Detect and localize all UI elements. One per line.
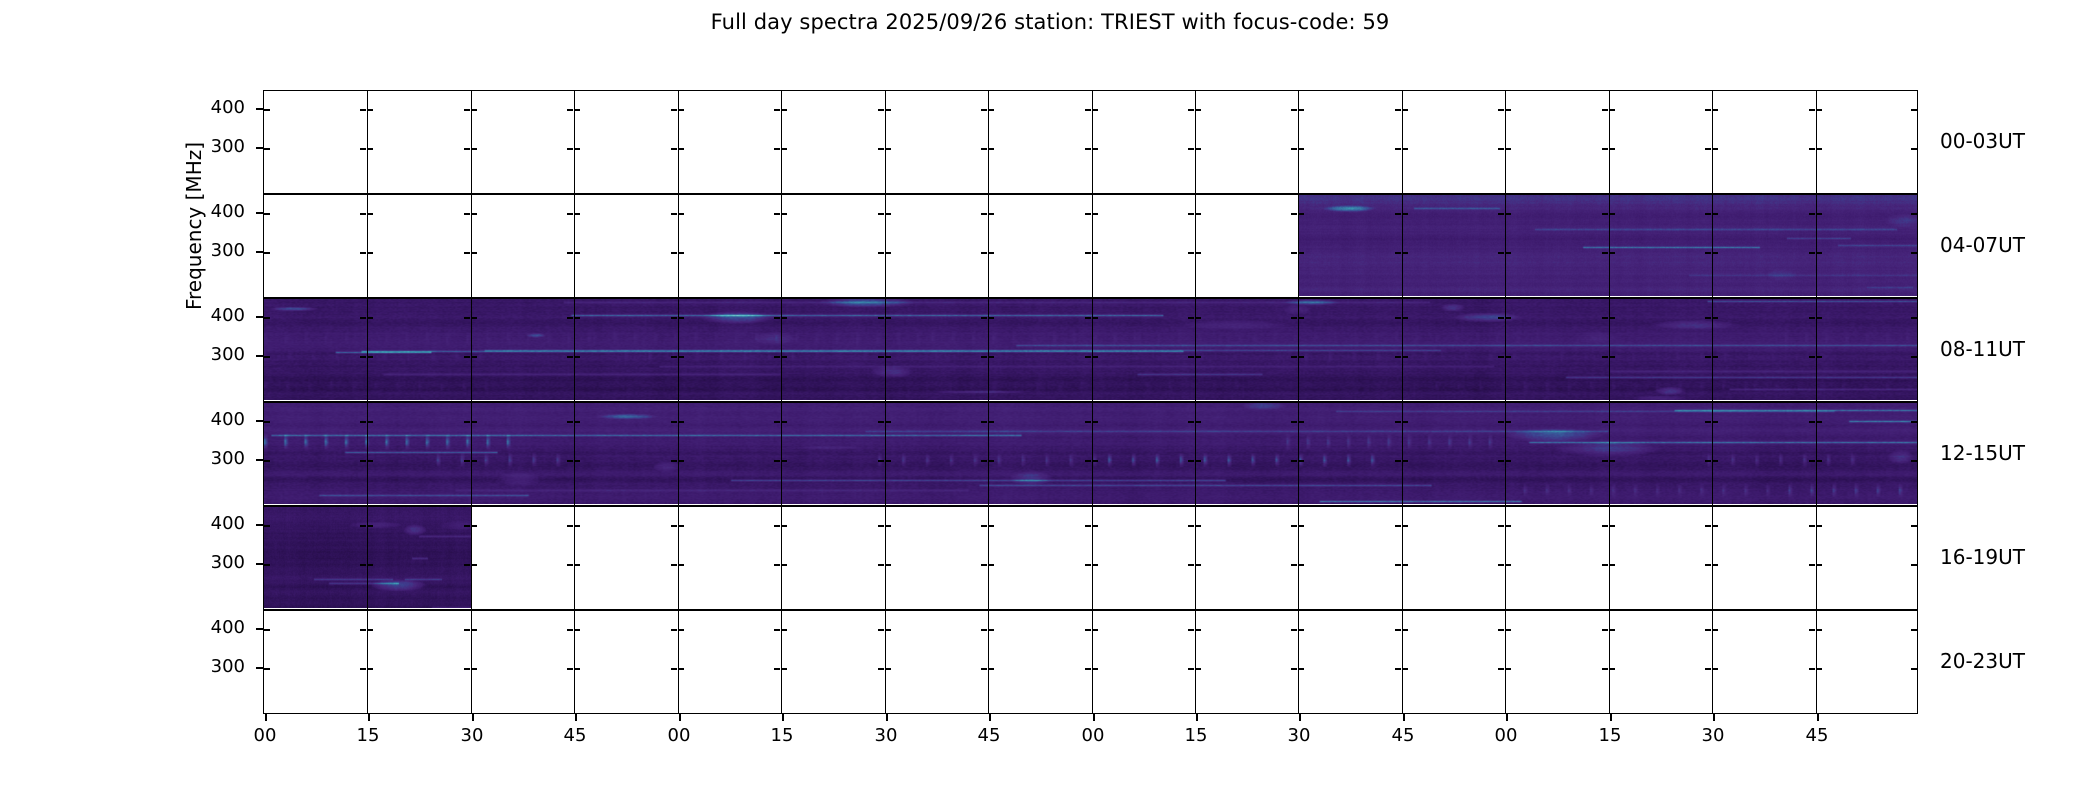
y-tick-mark bbox=[1085, 564, 1091, 566]
y-tick-mark bbox=[774, 148, 780, 150]
x-axis-tick-label: 15 bbox=[752, 725, 812, 746]
y-tick-mark bbox=[878, 564, 884, 566]
y-tick-mark bbox=[988, 252, 994, 254]
y-tick-mark bbox=[367, 109, 373, 111]
x-axis-tick bbox=[1713, 714, 1715, 721]
spectrogram-panel-20-23ut[interactable] bbox=[263, 610, 1918, 714]
y-tick-mark bbox=[264, 213, 270, 215]
column-divider bbox=[678, 611, 679, 713]
y-tick-mark bbox=[1298, 109, 1304, 111]
y-tick-mark bbox=[885, 148, 891, 150]
figure-title: Full day spectra 2025/09/26 station: TRI… bbox=[0, 10, 2100, 34]
y-axis-tick bbox=[256, 316, 263, 318]
y-tick-mark bbox=[1911, 109, 1917, 111]
spectrogram-panel-08-11ut[interactable] bbox=[263, 298, 1918, 402]
y-tick-mark bbox=[1092, 564, 1098, 566]
y-axis-tick bbox=[256, 628, 263, 630]
y-tick-mark bbox=[567, 109, 573, 111]
x-axis-tick-label: 30 bbox=[442, 725, 502, 746]
y-tick-mark bbox=[1092, 668, 1098, 670]
y-tick-mark bbox=[885, 668, 891, 670]
y-tick-mark bbox=[1705, 148, 1711, 150]
y-tick-mark bbox=[471, 525, 477, 527]
y-tick-mark bbox=[1188, 148, 1194, 150]
y-tick-mark bbox=[981, 525, 987, 527]
y-tick-mark bbox=[1498, 109, 1504, 111]
y-tick-mark bbox=[1602, 109, 1608, 111]
y-tick-mark bbox=[367, 668, 373, 670]
y-axis-tick-label: 400 bbox=[185, 201, 245, 222]
y-tick-mark bbox=[1092, 109, 1098, 111]
column-divider bbox=[781, 195, 782, 297]
y-tick-mark bbox=[1085, 148, 1091, 150]
column-divider bbox=[1505, 507, 1506, 609]
y-tick-mark bbox=[1092, 629, 1098, 631]
column-divider bbox=[1402, 611, 1403, 713]
y-tick-mark bbox=[1498, 629, 1504, 631]
y-tick-mark bbox=[1085, 629, 1091, 631]
y-tick-mark bbox=[1085, 109, 1091, 111]
x-axis-tick-label: 30 bbox=[1269, 725, 1329, 746]
y-tick-mark bbox=[988, 668, 994, 670]
y-tick-mark bbox=[1505, 148, 1511, 150]
column-divider bbox=[678, 507, 679, 609]
y-tick-mark bbox=[781, 525, 787, 527]
column-divider bbox=[1298, 611, 1299, 713]
y-tick-mark bbox=[781, 109, 787, 111]
panel-time-label: 00-03UT bbox=[1940, 129, 2025, 153]
column-divider bbox=[1609, 507, 1610, 609]
y-tick-mark bbox=[1195, 668, 1201, 670]
column-divider bbox=[1092, 507, 1093, 609]
column-divider bbox=[1816, 91, 1817, 193]
y-tick-mark bbox=[1395, 109, 1401, 111]
y-tick-mark bbox=[567, 668, 573, 670]
y-tick-mark bbox=[1092, 148, 1098, 150]
y-tick-mark bbox=[878, 109, 884, 111]
y-tick-mark bbox=[1195, 252, 1201, 254]
y-tick-mark bbox=[1291, 668, 1297, 670]
y-tick-mark bbox=[1195, 148, 1201, 150]
y-tick-mark bbox=[1505, 668, 1511, 670]
x-axis-tick-label: 15 bbox=[1580, 725, 1640, 746]
y-tick-mark bbox=[1402, 668, 1408, 670]
y-tick-mark bbox=[1395, 629, 1401, 631]
panel-time-label: 20-23UT bbox=[1940, 649, 2025, 673]
y-tick-mark bbox=[1816, 109, 1822, 111]
y-axis-tick-label: 300 bbox=[185, 344, 245, 365]
y-tick-mark bbox=[781, 252, 787, 254]
y-axis-tick bbox=[256, 459, 263, 461]
x-axis-tick bbox=[1299, 714, 1301, 721]
y-tick-mark bbox=[574, 213, 580, 215]
y-tick-mark bbox=[360, 213, 366, 215]
y-tick-mark bbox=[1816, 668, 1822, 670]
y-tick-mark bbox=[988, 629, 994, 631]
y-tick-mark bbox=[1298, 148, 1304, 150]
column-divider bbox=[781, 611, 782, 713]
y-tick-mark bbox=[671, 148, 677, 150]
column-divider bbox=[574, 611, 575, 713]
column-divider bbox=[367, 91, 368, 193]
x-axis-tick-label: 45 bbox=[1787, 725, 1847, 746]
y-tick-mark bbox=[1188, 668, 1194, 670]
y-tick-mark bbox=[1291, 564, 1297, 566]
spectrogram-figure: Full day spectra 2025/09/26 station: TRI… bbox=[0, 0, 2100, 800]
y-tick-mark bbox=[885, 525, 891, 527]
y-tick-mark bbox=[1712, 525, 1718, 527]
x-axis-tick-label: 15 bbox=[1166, 725, 1226, 746]
column-divider bbox=[1195, 611, 1196, 713]
y-tick-mark bbox=[1816, 525, 1822, 527]
column-divider bbox=[1402, 91, 1403, 193]
y-tick-mark bbox=[781, 629, 787, 631]
x-axis-tick bbox=[989, 714, 991, 721]
y-tick-mark bbox=[878, 213, 884, 215]
y-tick-mark bbox=[360, 148, 366, 150]
y-tick-mark bbox=[981, 109, 987, 111]
y-tick-mark bbox=[360, 109, 366, 111]
y-axis-tick bbox=[256, 420, 263, 422]
y-axis-tick-label: 400 bbox=[185, 305, 245, 326]
y-tick-mark bbox=[774, 629, 780, 631]
y-tick-mark bbox=[1402, 525, 1408, 527]
y-tick-mark bbox=[1291, 629, 1297, 631]
y-tick-mark bbox=[1291, 252, 1297, 254]
y-tick-mark bbox=[1609, 109, 1615, 111]
y-tick-mark bbox=[1809, 109, 1815, 111]
y-tick-mark bbox=[1911, 668, 1917, 670]
column-divider bbox=[1402, 507, 1403, 609]
spectrogram-panel-12-15ut[interactable] bbox=[263, 402, 1918, 506]
y-tick-mark bbox=[1712, 148, 1718, 150]
column-divider bbox=[988, 91, 989, 193]
y-tick-mark bbox=[1505, 109, 1511, 111]
x-axis-tick-label: 15 bbox=[338, 725, 398, 746]
y-tick-mark bbox=[678, 213, 684, 215]
y-axis-tick bbox=[256, 147, 263, 149]
y-tick-mark bbox=[671, 629, 677, 631]
y-tick-mark bbox=[1602, 148, 1608, 150]
column-divider bbox=[781, 507, 782, 609]
y-tick-mark bbox=[264, 109, 270, 111]
y-tick-mark bbox=[1188, 525, 1194, 527]
y-tick-mark bbox=[1498, 148, 1504, 150]
y-tick-mark bbox=[1602, 629, 1608, 631]
y-tick-mark bbox=[678, 525, 684, 527]
y-tick-mark bbox=[1402, 629, 1408, 631]
y-tick-mark bbox=[1395, 668, 1401, 670]
y-tick-mark bbox=[567, 564, 573, 566]
y-tick-mark bbox=[1712, 668, 1718, 670]
y-axis-tick bbox=[256, 524, 263, 526]
y-tick-mark bbox=[1092, 252, 1098, 254]
y-axis-tick bbox=[256, 251, 263, 253]
x-axis-tick-label: 45 bbox=[1373, 725, 1433, 746]
y-axis-tick bbox=[256, 212, 263, 214]
y-tick-mark bbox=[1298, 564, 1304, 566]
y-tick-mark bbox=[1498, 668, 1504, 670]
y-tick-mark bbox=[1809, 629, 1815, 631]
column-divider bbox=[471, 611, 472, 713]
x-axis-tick bbox=[886, 714, 888, 721]
y-tick-mark bbox=[567, 213, 573, 215]
y-tick-mark bbox=[1712, 109, 1718, 111]
y-tick-mark bbox=[1809, 148, 1815, 150]
y-tick-mark bbox=[885, 109, 891, 111]
y-tick-mark bbox=[988, 109, 994, 111]
y-tick-mark bbox=[1395, 148, 1401, 150]
y-tick-mark bbox=[574, 629, 580, 631]
y-tick-mark bbox=[678, 629, 684, 631]
y-tick-mark bbox=[1705, 525, 1711, 527]
spectrogram-data bbox=[264, 507, 471, 608]
x-axis-tick-label: 30 bbox=[856, 725, 916, 746]
y-tick-mark bbox=[1602, 668, 1608, 670]
y-tick-mark bbox=[781, 148, 787, 150]
y-tick-mark bbox=[367, 252, 373, 254]
panel-time-label: 16-19UT bbox=[1940, 545, 2025, 569]
y-tick-mark bbox=[981, 213, 987, 215]
y-tick-mark bbox=[1402, 148, 1408, 150]
y-tick-mark bbox=[471, 668, 477, 670]
y-tick-mark bbox=[981, 564, 987, 566]
y-tick-mark bbox=[1602, 564, 1608, 566]
y-axis-tick bbox=[256, 355, 263, 357]
column-divider bbox=[1712, 507, 1713, 609]
column-divider bbox=[1092, 611, 1093, 713]
y-tick-mark bbox=[1188, 109, 1194, 111]
y-tick-mark bbox=[1809, 564, 1815, 566]
y-tick-mark bbox=[464, 109, 470, 111]
y-tick-mark bbox=[1609, 564, 1615, 566]
y-tick-mark bbox=[264, 148, 270, 150]
y-tick-mark bbox=[671, 564, 677, 566]
y-tick-mark bbox=[264, 252, 270, 254]
y-axis-tick-label: 300 bbox=[185, 448, 245, 469]
y-tick-mark bbox=[1085, 252, 1091, 254]
y-tick-mark bbox=[885, 252, 891, 254]
y-tick-mark bbox=[981, 148, 987, 150]
x-axis-tick bbox=[575, 714, 577, 721]
y-tick-mark bbox=[1298, 668, 1304, 670]
y-tick-mark bbox=[988, 564, 994, 566]
y-tick-mark bbox=[1195, 109, 1201, 111]
y-axis-tick-label: 400 bbox=[185, 97, 245, 118]
column-divider bbox=[1092, 195, 1093, 297]
x-axis-tick-label: 30 bbox=[1683, 725, 1743, 746]
y-tick-mark bbox=[1609, 629, 1615, 631]
y-tick-mark bbox=[774, 525, 780, 527]
y-axis-tick-label: 400 bbox=[185, 409, 245, 430]
y-tick-mark bbox=[471, 213, 477, 215]
y-tick-mark bbox=[1092, 525, 1098, 527]
y-tick-mark bbox=[1705, 564, 1711, 566]
y-tick-mark bbox=[1085, 525, 1091, 527]
column-divider bbox=[471, 507, 472, 609]
x-axis-tick bbox=[1506, 714, 1508, 721]
spectrogram-panel-16-19ut[interactable] bbox=[263, 506, 1918, 610]
y-tick-mark bbox=[774, 213, 780, 215]
column-divider bbox=[1505, 611, 1506, 713]
y-tick-mark bbox=[464, 629, 470, 631]
panel-time-label: 04-07UT bbox=[1940, 233, 2025, 257]
y-tick-mark bbox=[1395, 525, 1401, 527]
y-tick-mark bbox=[1705, 668, 1711, 670]
y-tick-mark bbox=[1705, 629, 1711, 631]
column-divider bbox=[367, 195, 368, 297]
y-tick-mark bbox=[471, 252, 477, 254]
y-tick-mark bbox=[678, 109, 684, 111]
y-axis-tick-label: 300 bbox=[185, 656, 245, 677]
y-tick-mark bbox=[464, 668, 470, 670]
column-divider bbox=[1195, 91, 1196, 193]
y-tick-mark bbox=[1395, 564, 1401, 566]
panel-time-label: 12-15UT bbox=[1940, 441, 2025, 465]
y-axis-tick-label: 300 bbox=[185, 240, 245, 261]
y-tick-mark bbox=[671, 252, 677, 254]
y-tick-mark bbox=[574, 564, 580, 566]
y-tick-mark bbox=[574, 668, 580, 670]
y-axis-tick-label: 300 bbox=[185, 136, 245, 157]
y-tick-mark bbox=[360, 668, 366, 670]
x-axis-tick-label: 00 bbox=[1063, 725, 1123, 746]
y-tick-mark bbox=[878, 668, 884, 670]
y-tick-mark bbox=[1809, 668, 1815, 670]
y-tick-mark bbox=[774, 109, 780, 111]
y-tick-mark bbox=[471, 109, 477, 111]
x-axis-tick bbox=[1817, 714, 1819, 721]
y-tick-mark bbox=[1195, 213, 1201, 215]
y-tick-mark bbox=[464, 213, 470, 215]
y-tick-mark bbox=[464, 252, 470, 254]
y-tick-mark bbox=[671, 213, 677, 215]
y-tick-mark bbox=[1816, 629, 1822, 631]
column-divider bbox=[988, 507, 989, 609]
column-divider bbox=[574, 507, 575, 609]
y-tick-mark bbox=[1498, 525, 1504, 527]
column-divider bbox=[1816, 611, 1817, 713]
y-axis-tick-label: 400 bbox=[185, 617, 245, 638]
y-tick-mark bbox=[1505, 564, 1511, 566]
y-tick-mark bbox=[1195, 525, 1201, 527]
y-tick-mark bbox=[878, 252, 884, 254]
y-tick-mark bbox=[1911, 629, 1917, 631]
column-divider bbox=[988, 611, 989, 713]
y-tick-mark bbox=[774, 668, 780, 670]
y-tick-mark bbox=[885, 213, 891, 215]
y-tick-mark bbox=[671, 668, 677, 670]
spectrogram-data bbox=[264, 299, 1918, 400]
y-tick-mark bbox=[567, 525, 573, 527]
column-divider bbox=[1092, 91, 1093, 193]
column-divider bbox=[1298, 507, 1299, 609]
column-divider bbox=[1195, 507, 1196, 609]
y-tick-mark bbox=[1498, 564, 1504, 566]
x-axis-tick bbox=[472, 714, 474, 721]
y-tick-mark bbox=[1609, 668, 1615, 670]
y-tick-mark bbox=[264, 668, 270, 670]
x-axis-tick bbox=[1403, 714, 1405, 721]
y-tick-mark bbox=[781, 564, 787, 566]
y-tick-mark bbox=[981, 668, 987, 670]
y-tick-mark bbox=[1911, 564, 1917, 566]
y-tick-mark bbox=[678, 564, 684, 566]
y-tick-mark bbox=[988, 213, 994, 215]
y-tick-mark bbox=[574, 525, 580, 527]
column-divider bbox=[1609, 611, 1610, 713]
y-axis-tick-label: 400 bbox=[185, 513, 245, 534]
x-axis-tick bbox=[265, 714, 267, 721]
y-tick-mark bbox=[464, 148, 470, 150]
column-divider bbox=[988, 195, 989, 297]
spectrogram-panel-04-07ut[interactable] bbox=[263, 194, 1918, 298]
y-tick-mark bbox=[981, 629, 987, 631]
y-axis-tick bbox=[256, 563, 263, 565]
column-divider bbox=[1712, 611, 1713, 713]
x-axis-tick-label: 00 bbox=[1476, 725, 1536, 746]
y-tick-mark bbox=[781, 668, 787, 670]
spectrogram-panel-00-03ut[interactable] bbox=[263, 90, 1918, 194]
y-tick-mark bbox=[574, 109, 580, 111]
y-tick-mark bbox=[774, 252, 780, 254]
y-tick-mark bbox=[1602, 525, 1608, 527]
column-divider bbox=[367, 611, 368, 713]
x-axis-tick bbox=[782, 714, 784, 721]
y-tick-mark bbox=[1188, 252, 1194, 254]
y-tick-mark bbox=[1705, 109, 1711, 111]
y-tick-mark bbox=[567, 148, 573, 150]
y-tick-mark bbox=[264, 629, 270, 631]
y-tick-mark bbox=[574, 252, 580, 254]
y-axis-tick-label: 300 bbox=[185, 552, 245, 573]
y-tick-mark bbox=[1085, 668, 1091, 670]
y-tick-mark bbox=[1188, 564, 1194, 566]
y-tick-mark bbox=[981, 252, 987, 254]
column-divider bbox=[1505, 91, 1506, 193]
y-tick-mark bbox=[774, 564, 780, 566]
y-tick-mark bbox=[1505, 629, 1511, 631]
column-divider bbox=[1712, 91, 1713, 193]
y-tick-mark bbox=[1816, 148, 1822, 150]
column-divider bbox=[574, 91, 575, 193]
y-tick-mark bbox=[1291, 109, 1297, 111]
y-tick-mark bbox=[1291, 148, 1297, 150]
y-tick-mark bbox=[1609, 525, 1615, 527]
y-tick-mark bbox=[360, 252, 366, 254]
y-tick-mark bbox=[1195, 629, 1201, 631]
column-divider bbox=[885, 611, 886, 713]
y-tick-mark bbox=[1816, 564, 1822, 566]
y-tick-mark bbox=[471, 629, 477, 631]
x-axis-tick bbox=[1093, 714, 1095, 721]
y-tick-mark bbox=[885, 564, 891, 566]
x-axis-tick-label: 00 bbox=[235, 725, 295, 746]
x-axis-tick bbox=[1196, 714, 1198, 721]
y-tick-mark bbox=[1298, 629, 1304, 631]
y-tick-mark bbox=[988, 148, 994, 150]
y-tick-mark bbox=[1085, 213, 1091, 215]
column-divider bbox=[781, 91, 782, 193]
y-tick-mark bbox=[367, 213, 373, 215]
y-tick-mark bbox=[1402, 564, 1408, 566]
y-tick-mark bbox=[1712, 564, 1718, 566]
y-axis-tick bbox=[256, 108, 263, 110]
y-tick-mark bbox=[1505, 525, 1511, 527]
y-tick-mark bbox=[1298, 525, 1304, 527]
y-tick-mark bbox=[567, 252, 573, 254]
y-tick-mark bbox=[678, 668, 684, 670]
